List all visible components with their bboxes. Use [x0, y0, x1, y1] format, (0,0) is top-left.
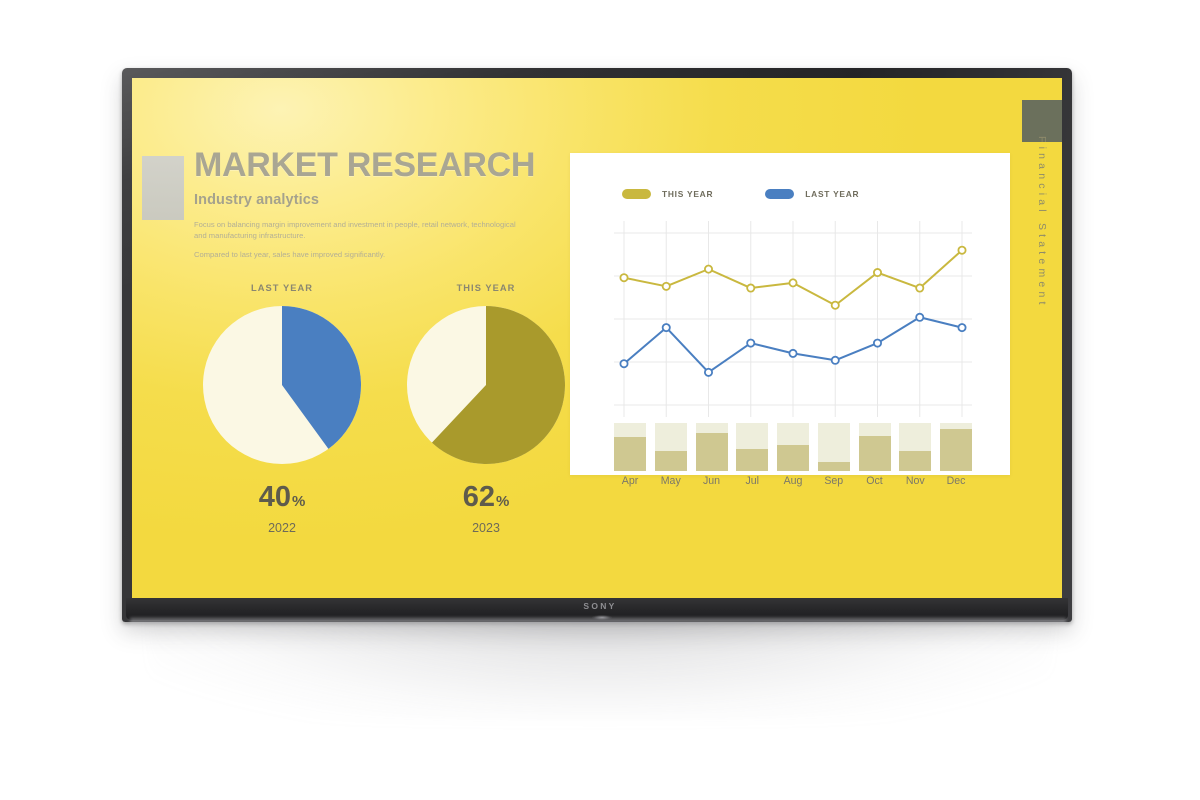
tv-brand-label: SONY — [0, 601, 1200, 611]
chart-legend: THIS YEAR LAST YEAR — [622, 189, 859, 199]
bar-slot — [696, 423, 728, 471]
bar-track — [859, 423, 891, 471]
pie-svg-this-year — [407, 306, 565, 464]
bar-slot — [736, 423, 768, 471]
legend-swatch-last-year — [765, 189, 794, 199]
legend-swatch-this-year — [622, 189, 651, 199]
slide-text-block: MARKET RESEARCH Industry analytics Focus… — [194, 148, 564, 261]
bar-fill — [899, 451, 931, 471]
body-paragraph-1: Focus on balancing margin improvement an… — [194, 220, 524, 242]
bar-fill — [859, 436, 891, 471]
bar-track — [696, 423, 728, 471]
tv-stand-base — [130, 618, 1066, 628]
pie-chart-group: LAST YEAR 40% 2022 THIS YEAR — [194, 283, 574, 535]
bar-slot — [940, 423, 972, 471]
axis-label-dec: Dec — [940, 475, 972, 487]
page-subtitle: Industry analytics — [194, 192, 564, 208]
pie-chart-this-year — [407, 306, 565, 464]
bar-track — [736, 423, 768, 471]
axis-label-aug: Aug — [777, 475, 809, 487]
axis-label-jun: Jun — [696, 475, 728, 487]
pie-value-this-year: 62% — [398, 483, 574, 512]
bar-track — [614, 423, 646, 471]
pie-value-last-year: 40% — [194, 483, 370, 512]
legend-label-last-year: LAST YEAR — [805, 189, 859, 199]
bar-slot — [777, 423, 809, 471]
bar-track — [777, 423, 809, 471]
pie-unit-last-year: % — [292, 493, 305, 510]
axis-label-sep: Sep — [818, 475, 850, 487]
chart-card: THIS YEAR LAST YEAR AprMayJunJulAugSepOc… — [570, 153, 1010, 475]
pie-card-last-year: LAST YEAR 40% 2022 — [194, 283, 370, 535]
pie-card-this-year: THIS YEAR 62% 2023 — [398, 283, 574, 535]
tv-screen: Financial Statement MARKET RESEARCH Indu… — [132, 78, 1062, 600]
pie-number-this-year: 62 — [463, 481, 495, 513]
bar-track — [655, 423, 687, 471]
body-paragraph-2: Compared to last year, sales have improv… — [194, 250, 524, 261]
bar-fill — [655, 451, 687, 471]
bar-fill — [736, 449, 768, 471]
pie-unit-this-year: % — [496, 493, 509, 510]
legend-label-this-year: THIS YEAR — [662, 189, 713, 199]
bar-slot — [899, 423, 931, 471]
pie-year-this-year: 2023 — [398, 521, 574, 535]
line-chart-plot — [614, 221, 972, 417]
axis-label-nov: Nov — [899, 475, 931, 487]
bar-fill — [614, 437, 646, 471]
bar-fill — [696, 433, 728, 471]
pie-chart-last-year — [203, 306, 361, 464]
line-chart-svg — [614, 221, 972, 417]
screenshot-canvas: Financial Statement MARKET RESEARCH Indu… — [0, 0, 1200, 800]
sidebar-label-text: Financial Statement — [1036, 136, 1048, 309]
bar-chart-row — [614, 423, 972, 471]
bar-fill — [777, 445, 809, 471]
legend-item-last-year: LAST YEAR — [765, 189, 859, 199]
sidebar-vertical-label: Financial Statement — [1025, 136, 1059, 396]
bar-fill — [818, 462, 850, 471]
bar-track — [899, 423, 931, 471]
bar-track — [940, 423, 972, 471]
decorative-grey-block-left — [142, 156, 184, 220]
axis-label-may: May — [655, 475, 687, 487]
pie-svg-last-year — [203, 306, 361, 464]
pie-caption-last-year: LAST YEAR — [194, 283, 370, 293]
page-title: MARKET RESEARCH — [194, 148, 564, 183]
bar-fill — [940, 429, 972, 471]
bar-slot — [655, 423, 687, 471]
pie-number-last-year: 40 — [259, 481, 291, 513]
legend-item-this-year: THIS YEAR — [622, 189, 713, 199]
axis-label-jul: Jul — [736, 475, 768, 487]
bar-slot — [859, 423, 891, 471]
pie-caption-this-year: THIS YEAR — [398, 283, 574, 293]
axis-label-oct: Oct — [859, 475, 891, 487]
axis-label-apr: Apr — [614, 475, 646, 487]
pie-year-last-year: 2022 — [194, 521, 370, 535]
bar-track — [818, 423, 850, 471]
bar-slot — [818, 423, 850, 471]
bar-slot — [614, 423, 646, 471]
bar-chart-axis-labels: AprMayJunJulAugSepOctNovDec — [614, 475, 972, 487]
